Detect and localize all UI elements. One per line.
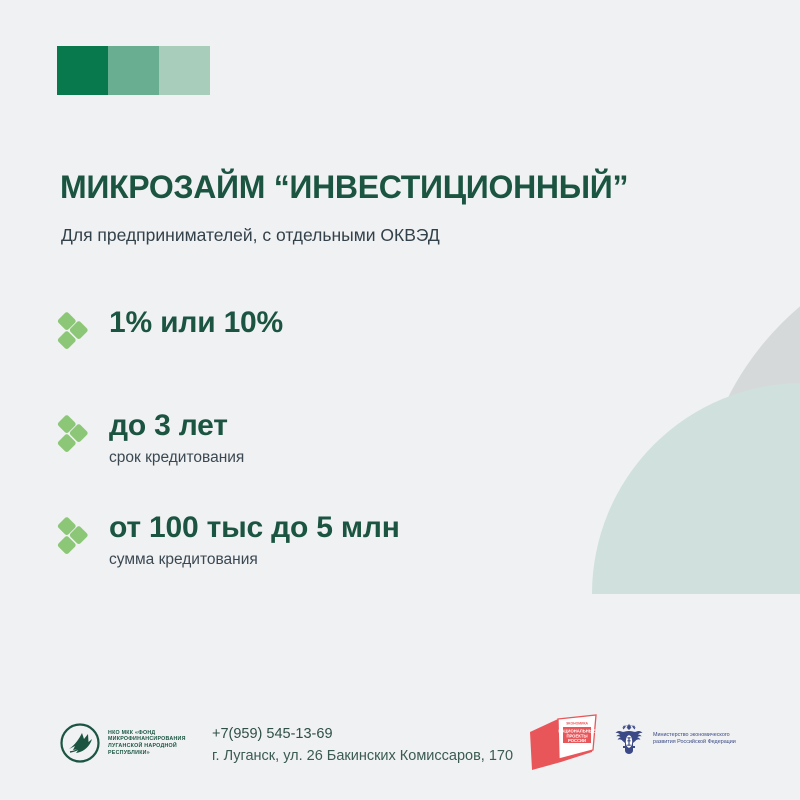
swatch-dark-green — [57, 46, 108, 95]
teal-ring-inner-cutout — [697, 383, 800, 595]
contact-phone[interactable]: +7(959) 545-13-69 — [212, 724, 513, 745]
decorative-shapes — [0, 0, 800, 800]
fund-emblem-icon — [60, 723, 100, 763]
brand-swatch-bar — [57, 46, 210, 95]
feature-item-term: до 3 лет срок кредитования — [58, 408, 244, 468]
gray-quarter-circle-decoration — [697, 238, 800, 528]
feature-value-term: до 3 лет — [109, 408, 244, 444]
swatch-light-green — [159, 46, 210, 95]
feature-item-amount: от 100 тыс до 5 млн сумма кредитования — [58, 510, 400, 570]
swatch-medium-green — [108, 46, 159, 95]
page-title: МИКРОЗАЙМ “ИНВЕСТИЦИОННЫЙ” — [60, 168, 628, 206]
feature-value-amount: от 100 тыс до 5 млн — [109, 510, 400, 546]
poster-root: МИКРОЗАЙМ “ИНВЕСТИЦИОННЫЙ” Для предприни… — [0, 0, 800, 800]
feature-value-rate: 1% или 10% — [109, 305, 283, 341]
feature-caption-amount: сумма кредитования — [109, 550, 400, 570]
contact-address: г. Луганск, ул. 26 Бакинских Комиссаров,… — [212, 746, 513, 767]
footer: НКО МКК «ФОНД МИКРОФИНАНСИРОВАНИЯ ЛУГАНС… — [0, 705, 800, 785]
feature-caption-term: срок кредитования — [109, 448, 244, 468]
page-subtitle: Для предпринимателей, с отдельными ОКВЭД — [61, 223, 440, 247]
fund-name-label: НКО МКК «ФОНД МИКРОФИНАНСИРОВАНИЯ ЛУГАНС… — [108, 730, 208, 756]
diamond-cluster-icon — [58, 312, 96, 352]
feature-item-rate: 1% или 10% — [58, 305, 283, 352]
diamond-cluster-icon — [58, 415, 96, 455]
teal-quarter-ring-decoration — [592, 383, 800, 594]
contact-block: +7(959) 545-13-69 г. Луганск, ул. 26 Бак… — [212, 724, 513, 767]
diamond-cluster-icon — [58, 517, 96, 557]
fund-logo: НКО МКК «ФОНД МИКРОФИНАНСИРОВАНИЯ ЛУГАНС… — [60, 723, 208, 763]
